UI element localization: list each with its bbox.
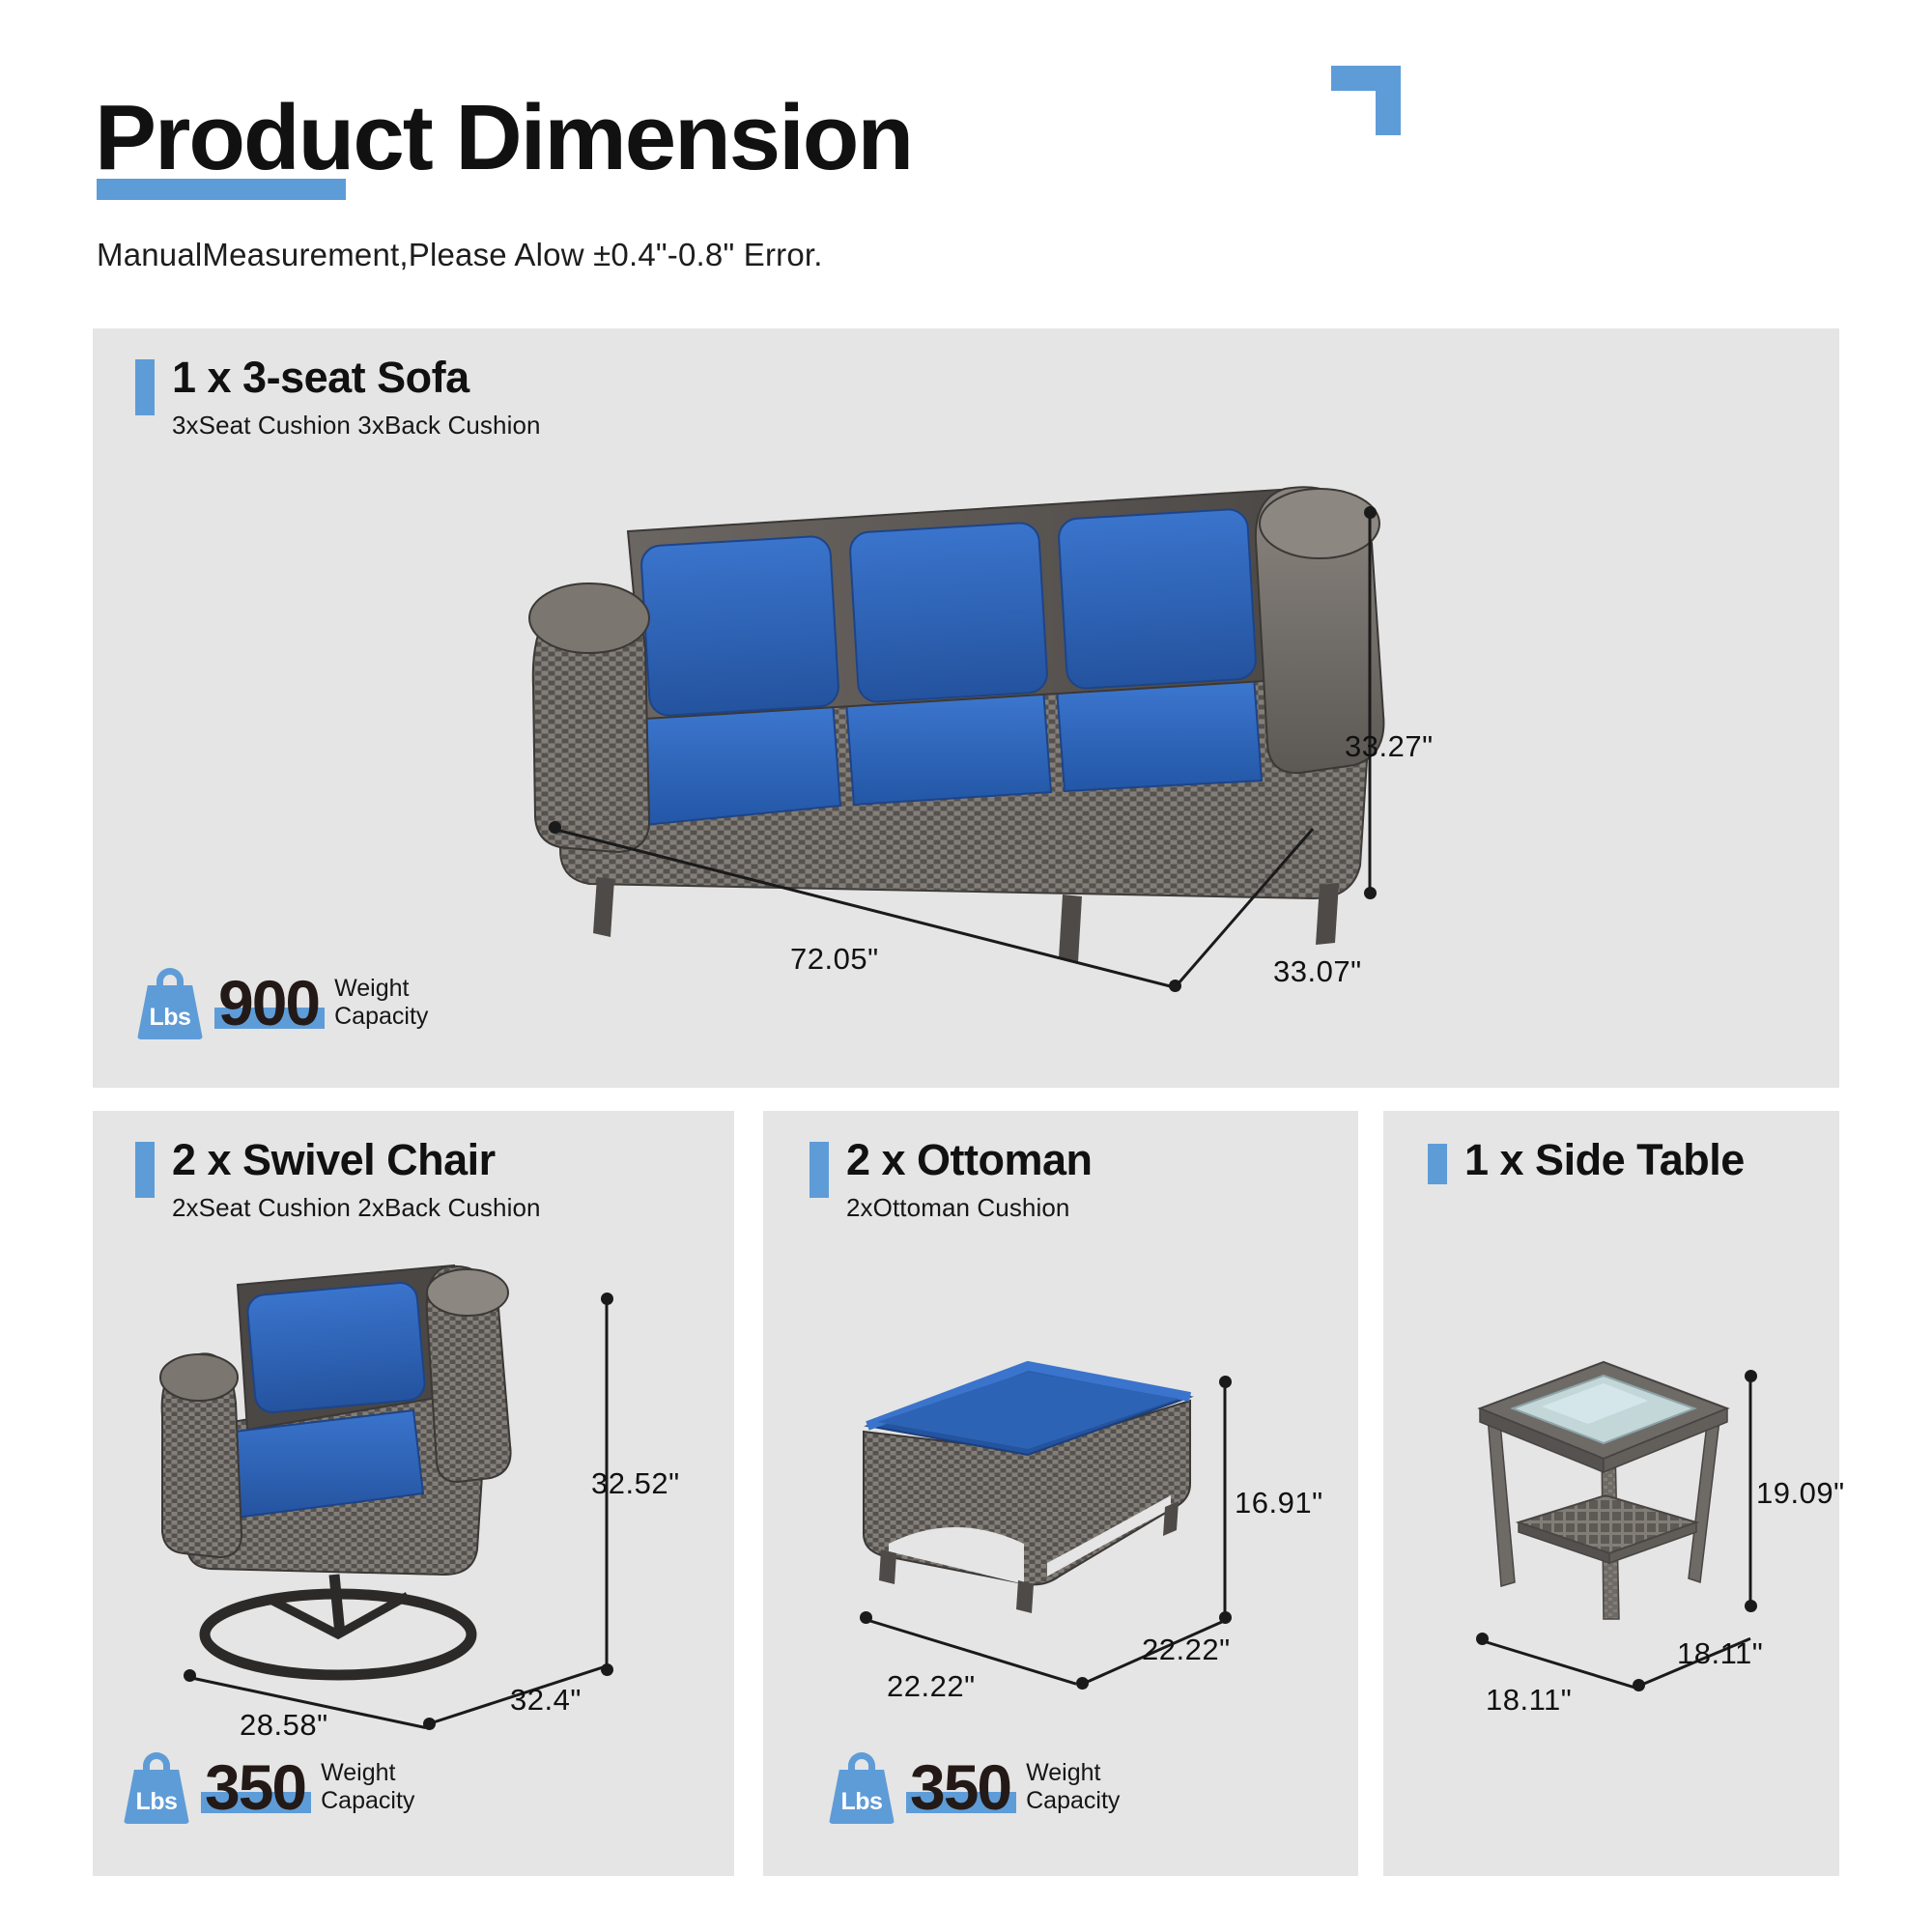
dim-line-height: [1749, 1378, 1752, 1607]
chair-subtitle: 2xSeat Cushion 2xBack Cushion: [172, 1193, 541, 1223]
side-table-illustration: [1459, 1323, 1748, 1642]
ottoman-subtitle: 2xOttoman Cushion: [846, 1193, 1093, 1223]
weight-badge-ottoman: Lbs 350 Weight Capacity: [827, 1750, 1120, 1824]
ottoman-weight-value: 350: [910, 1755, 1010, 1819]
weight-number-wrap: 900: [218, 971, 319, 1035]
weight-unit-label: Lbs: [135, 1004, 205, 1032]
chair-title: 2 x Swivel Chair: [172, 1138, 541, 1181]
weight-capacity-caption: Weight Capacity: [334, 975, 428, 1031]
page-title: Product Dimension: [95, 92, 912, 185]
accent-bar-icon: [1428, 1144, 1447, 1184]
heading-side-table: 1 x Side Table: [1428, 1138, 1745, 1184]
ottoman-depth-label: 22.22": [1142, 1633, 1231, 1667]
weight-icon: Lbs: [135, 966, 205, 1039]
sofa-width-label: 72.05": [790, 942, 879, 977]
sofa-depth-label: 33.07": [1273, 954, 1362, 989]
ottoman-illustration: [838, 1343, 1206, 1652]
weight-badge-sofa: Lbs 900 Weight Capacity: [135, 966, 428, 1039]
corner-bracket-decoration: [1331, 66, 1401, 135]
weight-badge-chair: Lbs 350 Weight Capacity: [122, 1750, 414, 1824]
page-header: Product Dimension ManualMeasurement,Plea…: [0, 0, 1932, 319]
chair-depth-label: 32.4": [510, 1683, 582, 1718]
chair-height-label: 32.52": [591, 1466, 680, 1501]
heading-ottoman: 2 x Ottoman 2xOttoman Cushion: [810, 1138, 1093, 1223]
sofa-illustration: [522, 396, 1410, 995]
weight-unit-label: Lbs: [122, 1788, 191, 1816]
bracket-vertical-bar: [1376, 66, 1401, 135]
weight-caption-line2: Capacity: [1026, 1787, 1120, 1815]
sofa-title: 1 x 3-seat Sofa: [172, 355, 541, 399]
weight-caption-line1: Weight: [334, 975, 428, 1003]
side-table-height-label: 19.09": [1756, 1476, 1845, 1511]
weight-caption-line2: Capacity: [334, 1003, 428, 1031]
weight-capacity-caption: Weight Capacity: [321, 1759, 414, 1815]
swivel-chair-illustration: [155, 1256, 580, 1690]
ottoman-height-label: 16.91": [1235, 1486, 1323, 1520]
heading-sofa: 1 x 3-seat Sofa 3xSeat Cushion 3xBack Cu…: [135, 355, 541, 440]
accent-bar-icon: [135, 359, 155, 415]
side-table-depth-label: 18.11": [1677, 1636, 1763, 1671]
chair-width-label: 28.58": [240, 1708, 328, 1743]
chair-weight-value: 350: [205, 1755, 305, 1819]
weight-capacity-caption: Weight Capacity: [1026, 1759, 1120, 1815]
side-table-width-label: 18.11": [1486, 1683, 1572, 1718]
dim-line-height: [1369, 514, 1372, 895]
sofa-weight-value: 900: [218, 971, 319, 1035]
weight-number-wrap: 350: [910, 1755, 1010, 1819]
ottoman-width-label: 22.22": [887, 1669, 976, 1704]
ottoman-title: 2 x Ottoman: [846, 1138, 1093, 1181]
measurement-disclaimer: ManualMeasurement,Please Alow ±0.4"-0.8"…: [97, 237, 823, 273]
weight-number-wrap: 350: [205, 1755, 305, 1819]
title-wrap: Product Dimension: [95, 92, 912, 185]
side-table-title: 1 x Side Table: [1464, 1138, 1745, 1181]
dim-line-height: [1224, 1383, 1227, 1619]
weight-caption-line2: Capacity: [321, 1787, 414, 1815]
weight-caption-line1: Weight: [1026, 1759, 1120, 1787]
sofa-height-label: 33.27": [1345, 729, 1434, 764]
accent-bar-icon: [135, 1142, 155, 1198]
accent-bar-icon: [810, 1142, 829, 1198]
weight-caption-line1: Weight: [321, 1759, 414, 1787]
weight-icon: Lbs: [827, 1750, 896, 1824]
sofa-subtitle: 3xSeat Cushion 3xBack Cushion: [172, 411, 541, 440]
heading-swivel-chair: 2 x Swivel Chair 2xSeat Cushion 2xBack C…: [135, 1138, 541, 1223]
weight-icon: Lbs: [122, 1750, 191, 1824]
weight-unit-label: Lbs: [827, 1788, 896, 1816]
